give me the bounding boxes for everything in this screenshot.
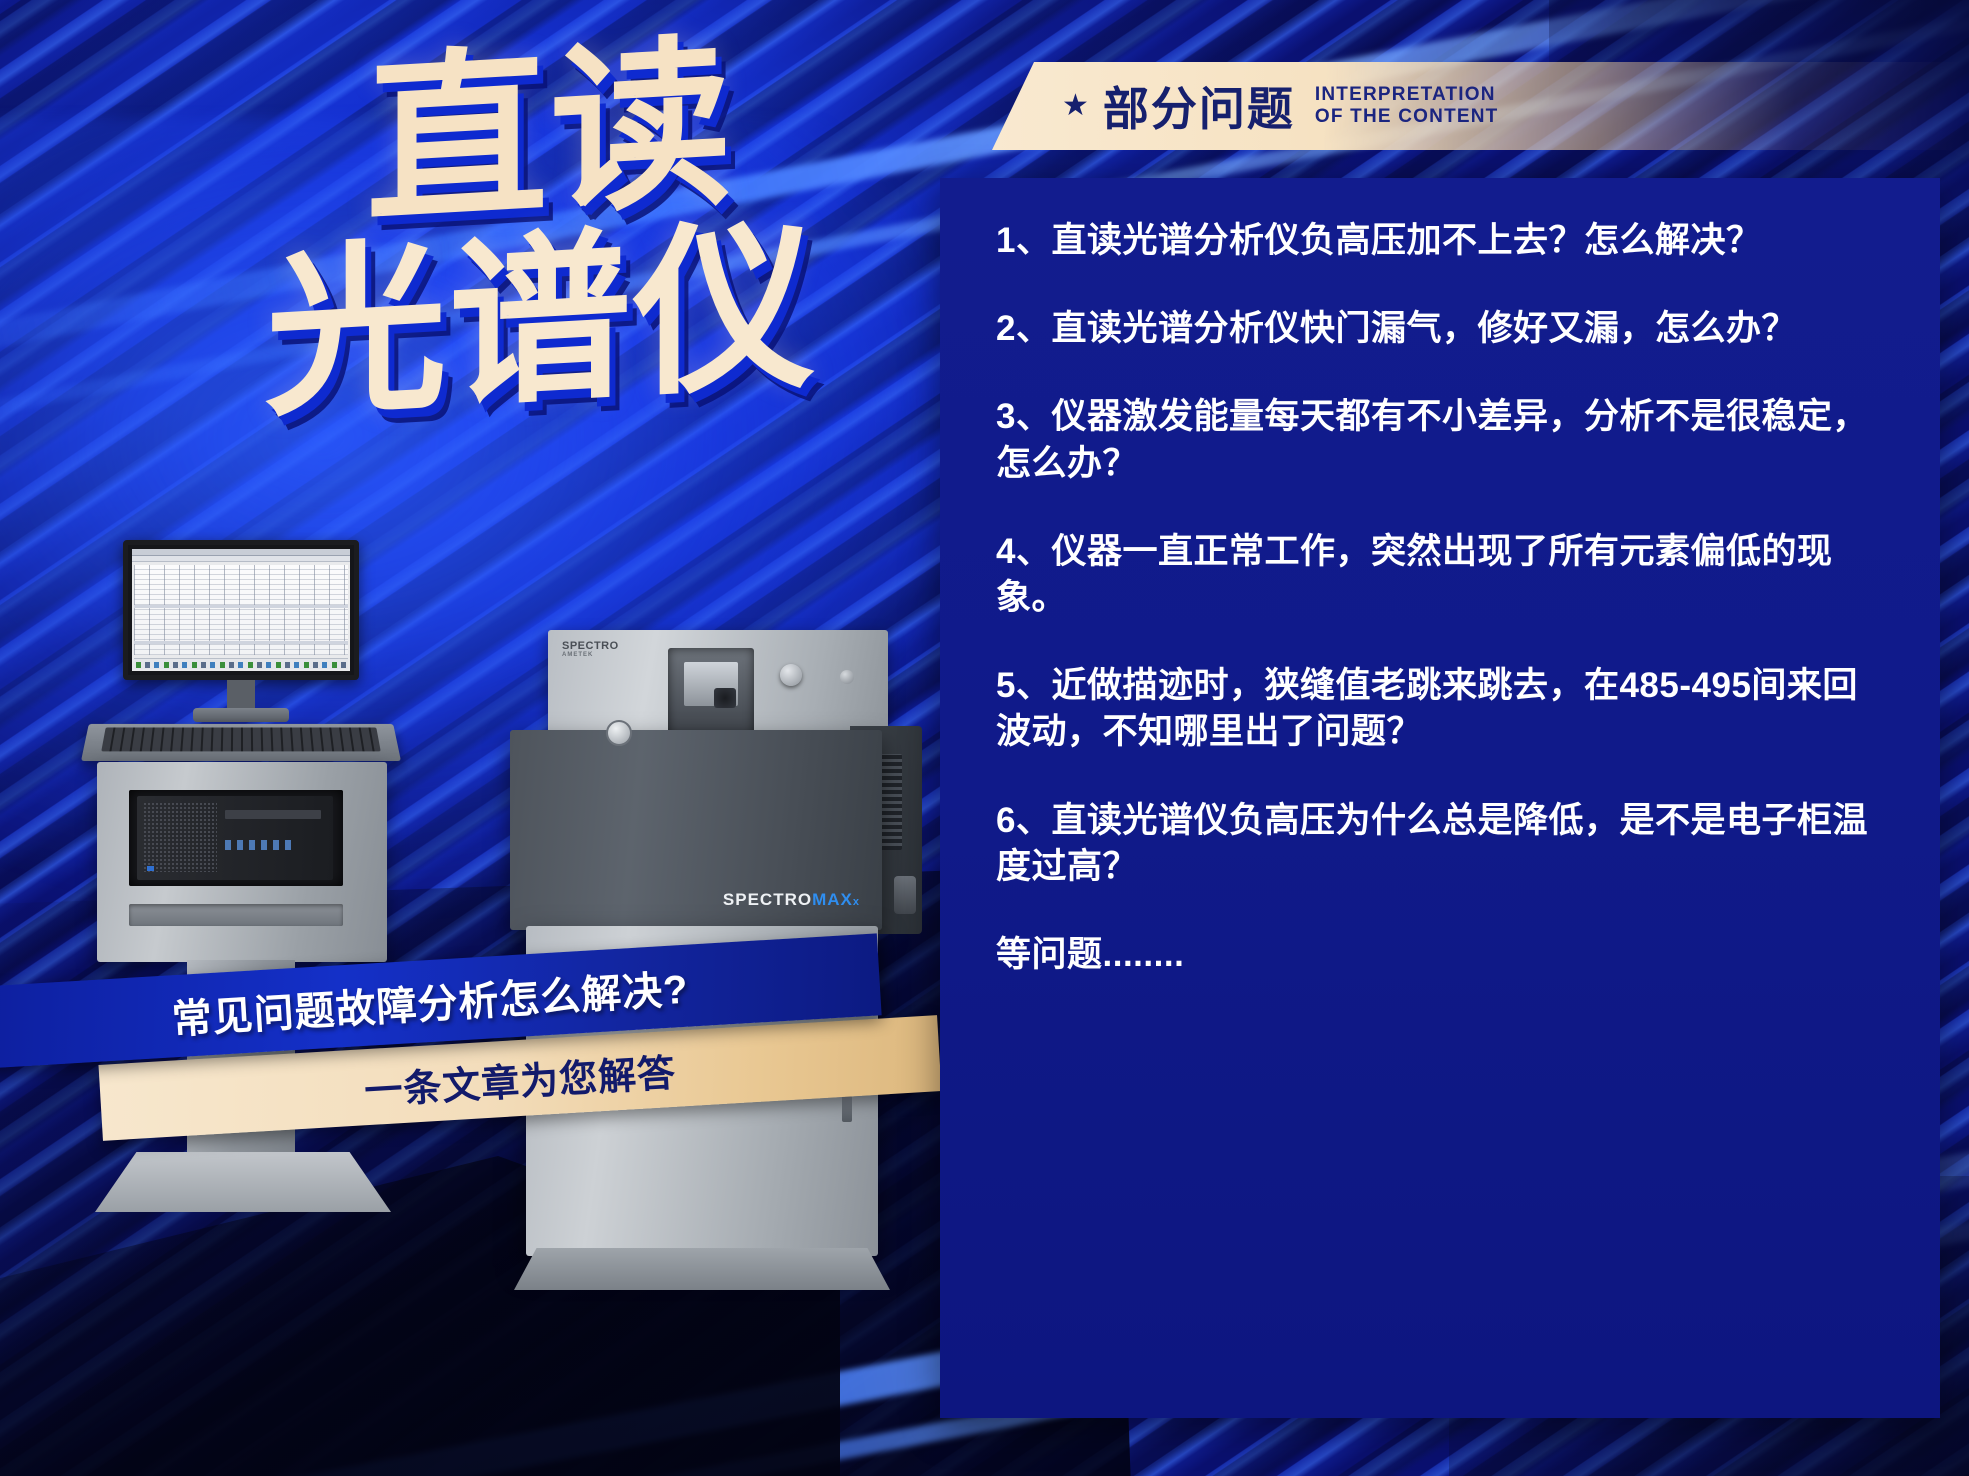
spectromax-brand: SPECTROMAXx [723,890,860,910]
keyboard-tray [81,724,401,761]
questions-list: 1、直读光谱分析仪负高压加不上去？怎么解决？ 2、直读光谱分析仪快门漏气，修好又… [996,218,1884,978]
cart-base-plate [95,1152,391,1212]
adjust-knob [840,670,854,684]
monitor-screen [132,549,350,671]
question-item: 1、直读光谱分析仪负高压加不上去？怎么解决？ [996,218,1884,264]
question-item: 6、直读光谱仪负高压为什么总是降低，是不是电子柜温度过高？ [996,798,1884,890]
pc-tower [137,796,333,880]
question-item: 5、近做描迹时，狭缝值老跳来跳去，在485-495间来回波动，不知哪里出了问题？ [996,663,1884,755]
star-icon: ★ [1062,91,1089,121]
question-item: 3、仪器激发能量每天都有不小差异，分析不是很稳定，怎么办？ [996,394,1884,486]
title-line-2: 光谱仪 [152,208,930,433]
monitor-neck [227,680,255,710]
brand-prefix: SPECTRO [723,890,812,909]
spectrometer-front-panel: SPECTROMAXx [510,730,882,930]
pc-tower-ports [225,840,295,850]
cart-body [97,762,387,962]
question-item: 2、直读光谱分析仪快门漏气，修好又漏，怎么办？ [996,306,1884,352]
brand-accent: MAX [812,890,853,909]
monitor [123,540,359,680]
side-handle [894,876,916,914]
question-item: 4、仪器一直正常工作，突然出现了所有元素偏低的现象。 [996,529,1884,621]
questions-footer-note: 等问题........ [996,932,1884,978]
brand-suffix: x [853,896,860,908]
questions-panel: 1、直读光谱分析仪负高压加不上去？怎么解决？ 2、直读光谱分析仪快门漏气，修好又… [940,178,1940,1418]
subtitle-line-1: INTERPRETATION [1315,84,1499,106]
computer-cart-image [75,540,415,1300]
poster-canvas: 直读 光谱仪 [0,0,1969,1476]
clamp-knob [780,664,802,686]
spark-stand-plate [684,662,738,706]
cart-logo-text: SPECTRO [562,640,619,652]
pc-tower-drive-bay [225,810,321,819]
poster-title: 直读 光谱仪 [170,42,930,412]
spark-stand [668,648,754,736]
pc-tower-mesh [143,802,217,872]
software-toolbar [132,556,350,562]
software-status-bar [134,658,348,669]
section-header-banner: ★ 部分问题 INTERPRETATION OF THE CONTENT [992,62,1969,150]
software-titlebar [132,549,350,556]
spectrometer-cart-logo: SPECTRO AMETEK [562,640,619,658]
keyboard [101,727,380,751]
software-row-divider-1 [134,605,348,608]
spectrometer-base-plate [514,1248,890,1290]
software-row-divider-2 [134,641,348,644]
monitor-base [193,708,289,722]
cart-logo-subtext: AMETEK [562,652,619,658]
cart-drawer [129,904,343,926]
section-header-subtitle: INTERPRETATION OF THE CONTENT [1315,84,1499,129]
section-header-title: 部分问题 [1103,73,1295,139]
pc-tower-led [147,866,154,871]
cart-compartment [129,790,343,886]
spark-aperture [714,688,736,708]
ribbon-cream-text: 一条文章为您解答 [363,1041,678,1114]
front-latch [606,720,632,746]
subtitle-line-2: OF THE CONTENT [1315,106,1499,128]
cabinet-lock [842,1096,852,1122]
